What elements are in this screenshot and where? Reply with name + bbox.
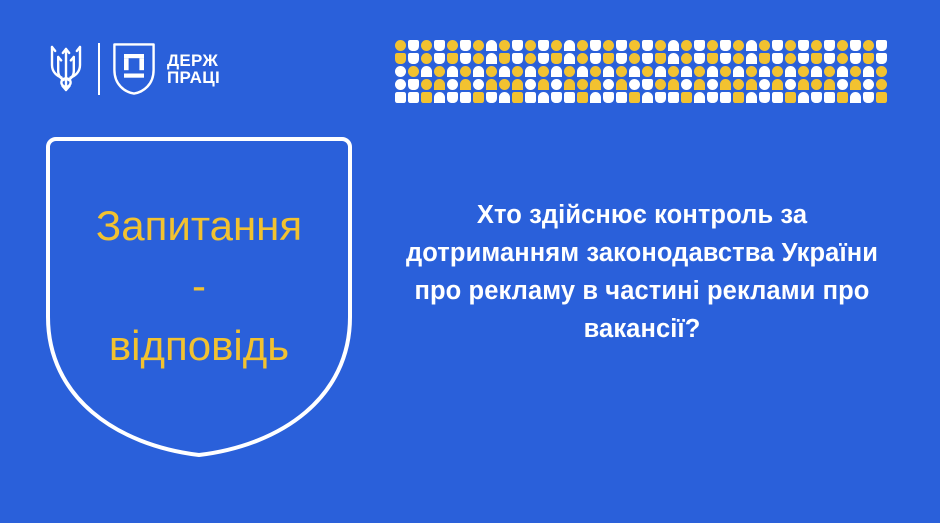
shield-dot-grid-pattern xyxy=(395,39,895,108)
logo-divider xyxy=(98,43,100,95)
slide-canvas: ДЕРЖ ПРАЦІ Запитання - відповідь Хто зді… xyxy=(0,0,940,523)
ukraine-trident-icon xyxy=(46,41,86,97)
shield-label-line1: Запитання xyxy=(96,195,302,257)
question-answer-shield: Запитання - відповідь xyxy=(44,135,354,459)
shield-label-line2: - xyxy=(192,257,206,315)
question-text: Хто здійснює контроль за дотриманням зак… xyxy=(392,196,892,348)
shield-label-line3: відповідь xyxy=(109,315,289,377)
derzhpratsi-shield-icon xyxy=(112,42,156,96)
logo-wordmark-line2: ПРАЦІ xyxy=(167,69,220,86)
logo-lockup: ДЕРЖ ПРАЦІ xyxy=(46,38,220,100)
shield-label: Запитання - відповідь xyxy=(44,135,354,459)
logo-wordmark-line1: ДЕРЖ xyxy=(167,52,220,69)
logo-wordmark: ДЕРЖ ПРАЦІ xyxy=(167,52,220,86)
